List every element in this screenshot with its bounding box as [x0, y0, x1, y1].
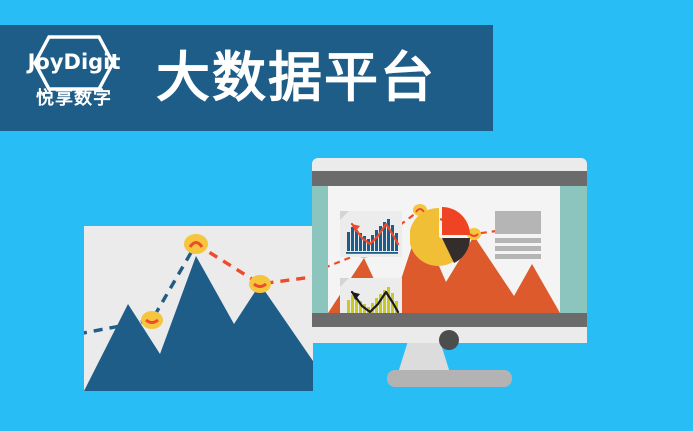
logo: JoyDigit 悦享数字 — [14, 32, 134, 124]
card-fold-corner — [340, 278, 349, 287]
monitor-bottom-bar — [312, 313, 587, 327]
mountain-area-chart — [84, 226, 313, 391]
desktop-monitor — [312, 158, 587, 343]
card-fold-corner — [340, 211, 349, 220]
widget-bar-chart-blue[interactable] — [340, 211, 402, 257]
data-point-marker — [249, 275, 271, 293]
bar-chart-blue-icon — [340, 211, 402, 257]
monitor-base — [387, 370, 512, 387]
monitor-screen — [312, 186, 587, 313]
widget-text-block[interactable] — [495, 211, 541, 255]
banner-illustration-canvas: JoyDigit 悦享数字 大数据平台 — [0, 0, 693, 431]
text-block-line — [495, 238, 541, 243]
mountain-shape — [84, 256, 313, 391]
data-point-marker — [141, 311, 163, 329]
widget-bar-chart-yellow[interactable] — [340, 278, 402, 313]
page-title: 大数据平台 — [156, 51, 436, 105]
header-banner: JoyDigit 悦享数字 大数据平台 — [0, 25, 493, 131]
pie-chart-icon — [410, 206, 472, 268]
screen-accent-right — [560, 186, 587, 313]
data-point-marker — [184, 234, 208, 254]
text-block-line — [495, 246, 541, 251]
logo-subtitle: 悦享数字 — [36, 89, 112, 107]
widget-pie-chart[interactable] — [410, 206, 472, 268]
pie-slice-red — [442, 207, 470, 235]
left-mountain-panel — [84, 226, 313, 391]
power-button-icon[interactable] — [439, 330, 459, 350]
monitor-top-bar — [312, 171, 587, 186]
text-block-header — [495, 211, 541, 234]
text-block-line — [495, 254, 541, 259]
bar-chart-yellow-icon — [340, 278, 402, 313]
screen-accent-left — [312, 186, 328, 313]
logo-wordmark: JoyDigit — [28, 52, 121, 73]
